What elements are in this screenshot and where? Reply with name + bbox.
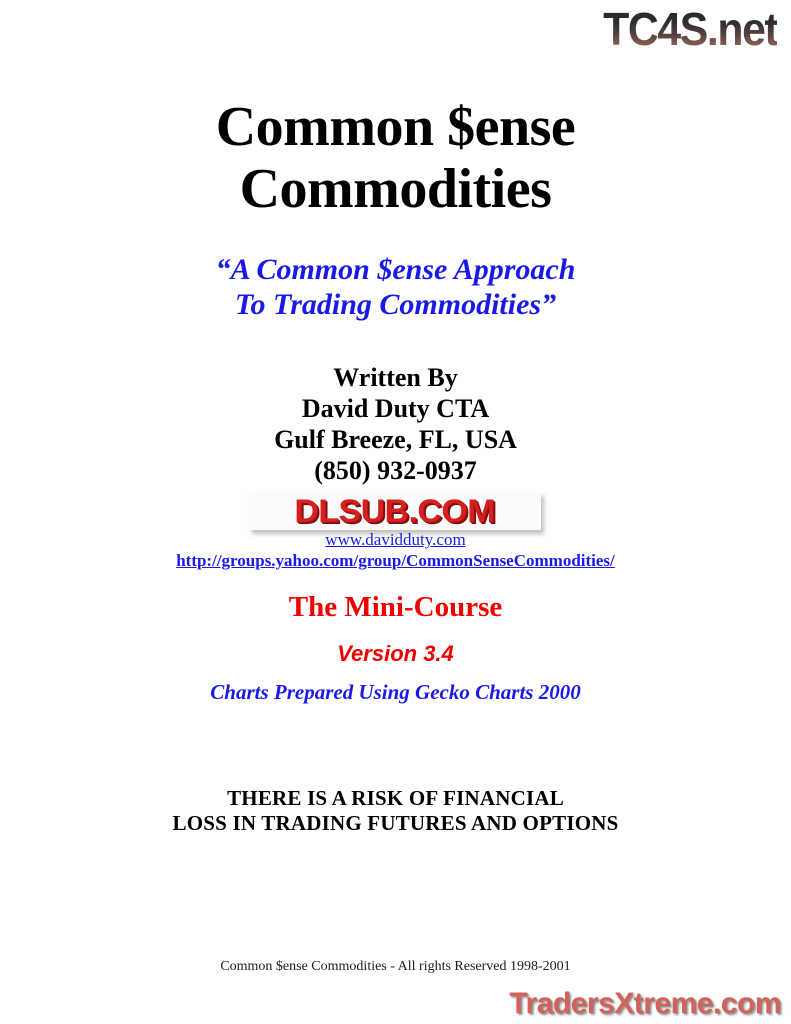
page-title-line-1: Common $ense <box>0 96 791 158</box>
author-phone: (850) 932-0937 <box>0 455 791 486</box>
dlsub-watermark-label: DLSUB.COM <box>295 494 496 528</box>
risk-disclaimer-line-2: LOSS IN TRADING FUTURES AND OPTIONS <box>0 811 791 836</box>
dlsub-watermark: DLSUB.COM <box>249 492 541 530</box>
page-subtitle-line-2: To Trading Commodities” <box>0 287 791 322</box>
written-by-label: Written By <box>0 362 791 393</box>
footer-copyright: Common $ense Commodities - All rights Re… <box>0 958 791 976</box>
tc4s-watermark: TC4S.net <box>603 2 777 56</box>
course-name: The Mini-Course <box>0 590 791 624</box>
author-name: David Duty CTA <box>0 393 791 424</box>
risk-disclaimer-line-1: THERE IS A RISK OF FINANCIAL <box>0 786 791 811</box>
tradersxtreme-watermark: TradersXtreme.com <box>509 985 781 1023</box>
page-subtitle: “A Common $ense Approach To Trading Comm… <box>0 252 791 322</box>
risk-disclaimer: THERE IS A RISK OF FINANCIAL LOSS IN TRA… <box>0 786 791 836</box>
page-subtitle-line-1: “A Common $ense Approach <box>0 252 791 287</box>
yahoo-group-link[interactable]: http://groups.yahoo.com/group/CommonSens… <box>0 550 791 571</box>
version-label: Version 3.4 <box>0 640 791 667</box>
document-page: TC4S.net Common $ense Commodities “A Com… <box>0 0 791 1024</box>
author-block: Written By David Duty CTA Gulf Breeze, F… <box>0 362 791 486</box>
page-title-line-2: Commodities <box>0 158 791 220</box>
page-title: Common $ense Commodities <box>0 96 791 220</box>
author-location: Gulf Breeze, FL, USA <box>0 424 791 455</box>
charts-software-note: Charts Prepared Using Gecko Charts 2000 <box>0 679 791 705</box>
website-link[interactable]: www.davidduty.com <box>0 529 791 550</box>
